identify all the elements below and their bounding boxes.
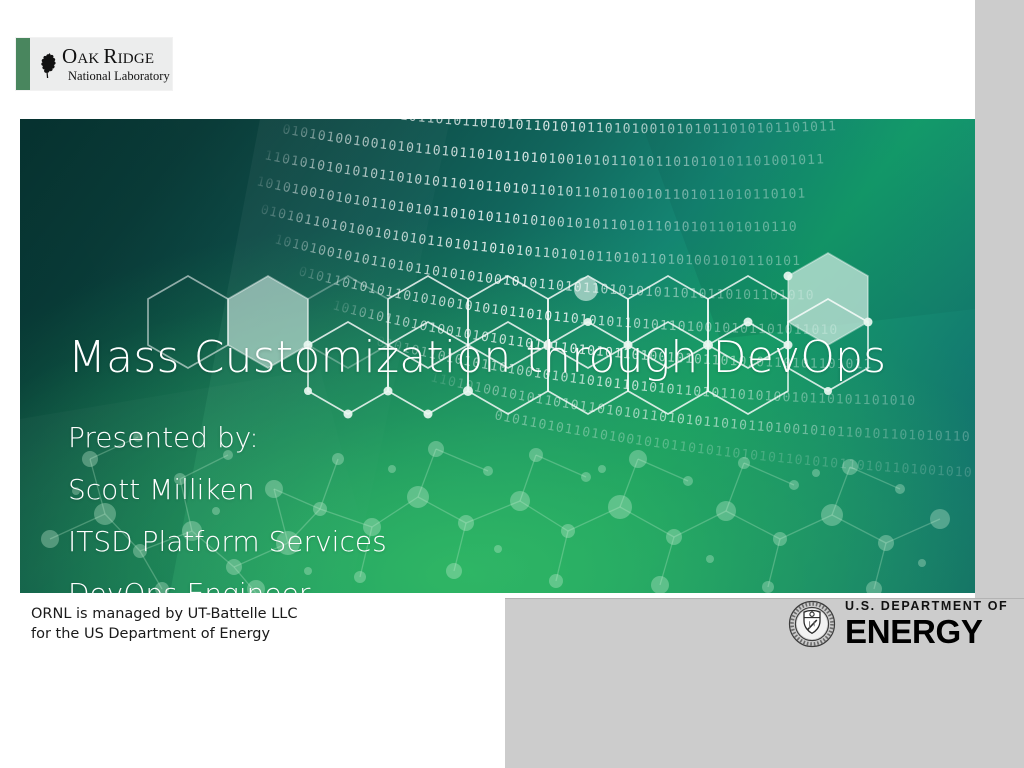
ornl-name-idge: IDGE xyxy=(118,51,155,67)
ornl-logo-name-top: OAK RIDGE xyxy=(62,46,170,67)
presenter-department: ITSD Platform Services xyxy=(68,528,508,556)
presenter-role: DevOps Engineer xyxy=(68,580,508,593)
ornl-logo-lockup: OAK RIDGE National Laboratory xyxy=(30,38,172,90)
hero-image: 1010010101011010110101011010101101010010… xyxy=(20,119,975,593)
management-statement: ORNL is managed by UT-Battelle LLC for t… xyxy=(31,604,297,644)
doe-energy-label: ENERGY xyxy=(845,615,1008,648)
doe-department-label: U.S. DEPARTMENT OF xyxy=(845,600,1008,613)
page-title: Mass Customization through DevOps xyxy=(68,335,928,382)
ornl-name-r: R xyxy=(103,44,117,68)
ornl-logo-wordmark: OAK RIDGE National Laboratory xyxy=(62,46,170,83)
management-statement-line1: ORNL is managed by UT-Battelle LLC xyxy=(31,604,297,624)
ornl-name-ak: AK xyxy=(77,51,103,67)
presenter-details: Presented by: Scott Milliken ITSD Platfo… xyxy=(68,424,508,593)
presented-by-label: Presented by: xyxy=(68,424,508,452)
presenter-name: Scott Milliken xyxy=(68,476,508,504)
doe-seal-icon xyxy=(788,600,836,648)
ornl-logo-green-bar xyxy=(16,38,30,90)
doe-wordmark: U.S. DEPARTMENT OF ENERGY xyxy=(845,600,1008,648)
slide-canvas: OAK RIDGE National Laboratory xyxy=(0,0,1024,768)
ornl-logo: OAK RIDGE National Laboratory xyxy=(16,38,172,90)
management-statement-line2: for the US Department of Energy xyxy=(31,624,297,644)
ornl-logo-name-bottom: National Laboratory xyxy=(68,70,170,83)
oak-leaf-icon xyxy=(38,52,60,78)
ornl-name-o: O xyxy=(62,44,77,68)
doe-logo: U.S. DEPARTMENT OF ENERGY xyxy=(788,600,1008,648)
